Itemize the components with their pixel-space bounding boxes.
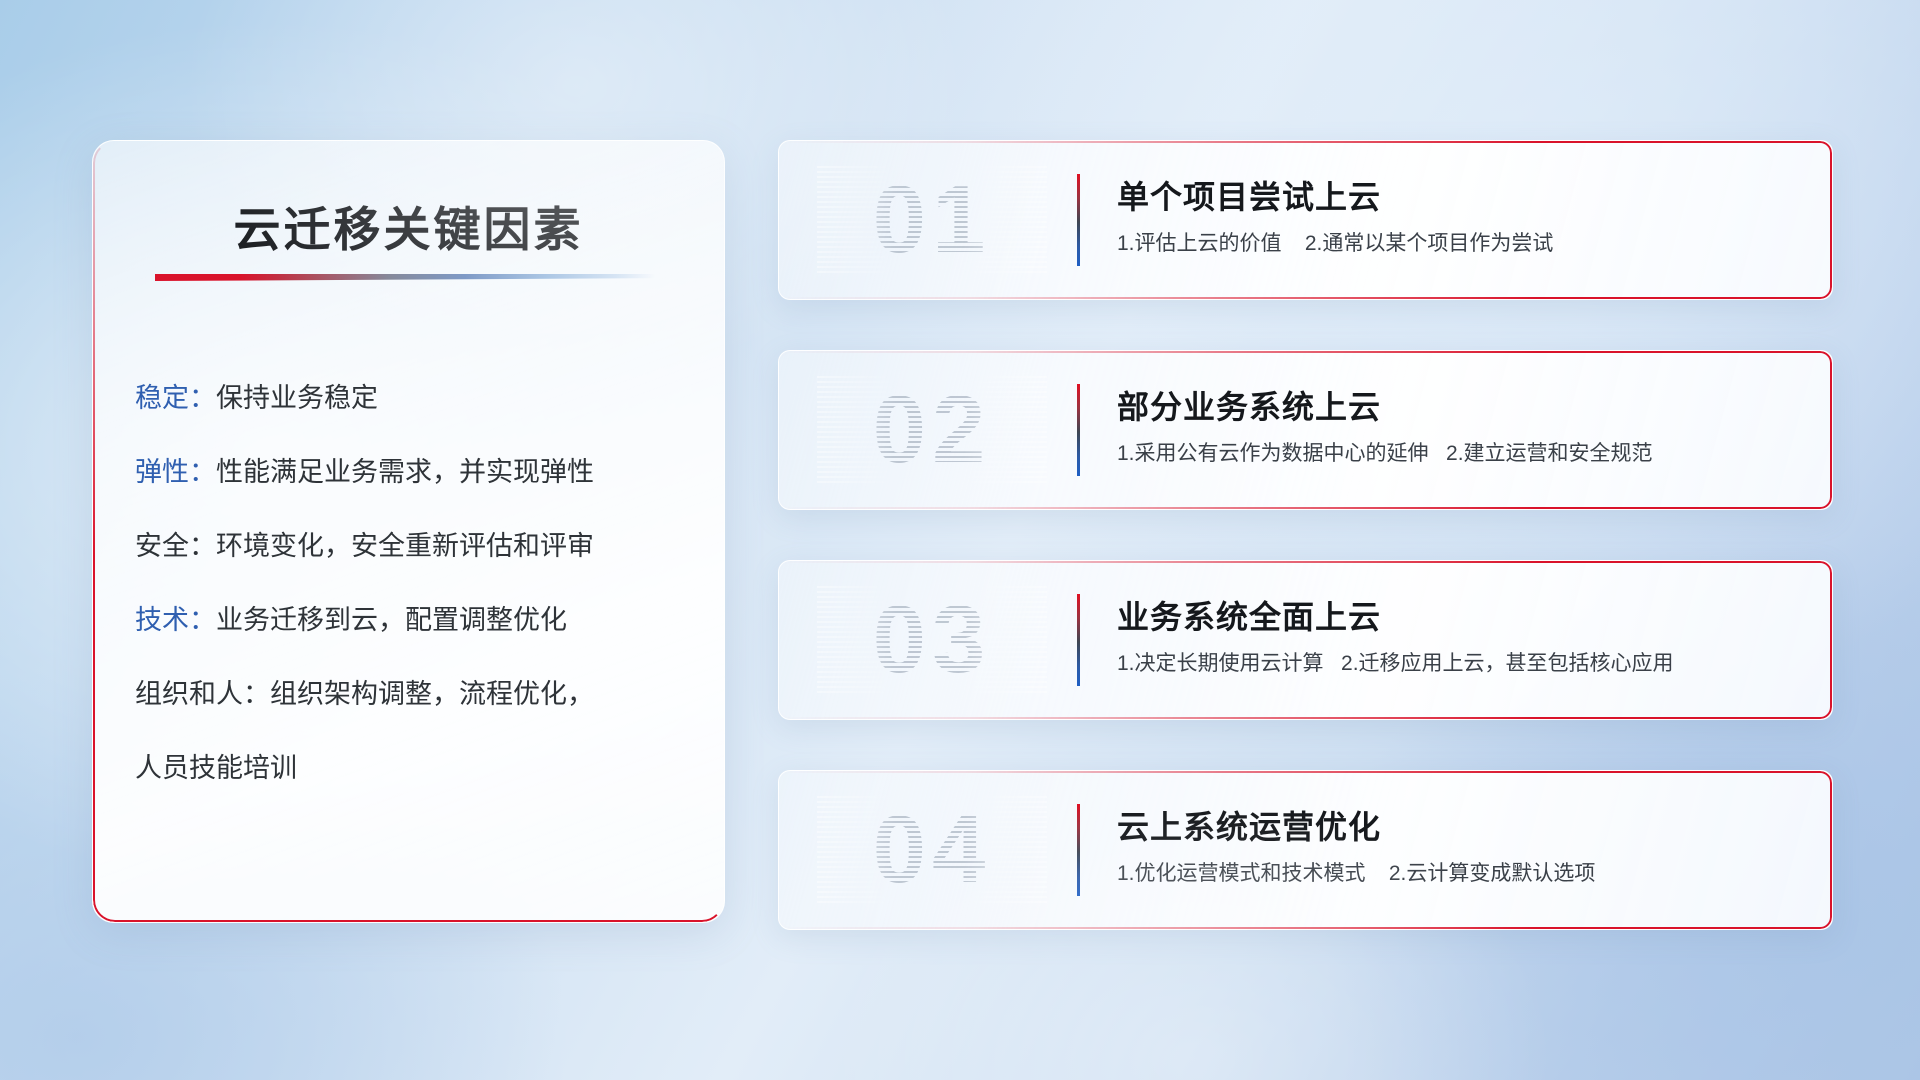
list-item-value: 保持业务稳定 xyxy=(216,383,378,413)
list-item-key: 技术： xyxy=(135,605,216,635)
card-body: 云上系统运营优化 1.优化运营模式和技术模式 2.云计算变成默认选项 xyxy=(1117,805,1804,889)
card-title: 业务系统全面上云 xyxy=(1117,595,1804,639)
card-body: 部分业务系统上云 1.采用公有云作为数据中心的延伸 2.建立运营和安全规范 xyxy=(1117,385,1804,469)
slide-canvas: 云迁移关键因素 稳定：保持业务稳定 弹性：性能满足业务需求，并实现弹性 安全：环… xyxy=(0,0,1920,1080)
stage-number: 03 xyxy=(817,586,1047,694)
key-factors-panel: 云迁移关键因素 稳定：保持业务稳定 弹性：性能满足业务需求，并实现弹性 安全：环… xyxy=(92,140,725,923)
list-item: 安全：环境变化，安全重新评估和评审 xyxy=(135,509,696,583)
list-item-continuation: 人员技能培训 xyxy=(135,731,696,805)
list-item-value: 性能满足业务需求，并实现弹性 xyxy=(216,457,594,487)
card-subtitle: 1.评估上云的价值 2.通常以某个项目作为尝试 xyxy=(1117,229,1804,259)
stage-card-02[interactable]: 02 部分业务系统上云 1.采用公有云作为数据中心的延伸 2.建立运营和安全规范 xyxy=(778,350,1833,510)
card-subtitle: 1.决定长期使用云计算 2.迁移应用上云，甚至包括核心应用 xyxy=(1117,649,1804,679)
list-item-value: 人员技能培训 xyxy=(135,753,297,783)
list-item: 弹性：性能满足业务需求，并实现弹性 xyxy=(135,435,696,509)
card-title: 云上系统运营优化 xyxy=(1117,805,1804,849)
stage-card-01[interactable]: 01 单个项目尝试上云 1.评估上云的价值 2.通常以某个项目作为尝试 xyxy=(778,140,1833,300)
title-underline-decoration xyxy=(155,274,655,281)
key-factors-list: 稳定：保持业务稳定 弹性：性能满足业务需求，并实现弹性 安全：环境变化，安全重新… xyxy=(135,361,696,805)
stage-number: 01 xyxy=(817,166,1047,274)
list-item-key: 安全： xyxy=(135,531,216,561)
list-item-key: 组织和人： xyxy=(135,679,270,709)
card-divider xyxy=(1077,384,1080,476)
card-body: 单个项目尝试上云 1.评估上云的价值 2.通常以某个项目作为尝试 xyxy=(1117,175,1804,259)
list-item-value: 组织架构调整，流程优化， xyxy=(270,679,594,709)
list-item: 技术：业务迁移到云，配置调整优化 xyxy=(135,583,696,657)
card-divider xyxy=(1077,594,1080,686)
list-item-value: 环境变化，安全重新评估和评审 xyxy=(216,531,594,561)
stage-number: 04 xyxy=(817,796,1047,904)
card-subtitle: 1.采用公有云作为数据中心的延伸 2.建立运营和安全规范 xyxy=(1117,439,1804,469)
card-divider xyxy=(1077,804,1080,896)
stage-card-03[interactable]: 03 业务系统全面上云 1.决定长期使用云计算 2.迁移应用上云，甚至包括核心应… xyxy=(778,560,1833,720)
stage-number: 02 xyxy=(817,376,1047,484)
card-title: 部分业务系统上云 xyxy=(1117,385,1804,429)
list-item-key: 稳定： xyxy=(135,383,216,413)
card-title: 单个项目尝试上云 xyxy=(1117,175,1804,219)
card-body: 业务系统全面上云 1.决定长期使用云计算 2.迁移应用上云，甚至包括核心应用 xyxy=(1117,595,1804,679)
card-divider xyxy=(1077,174,1080,266)
card-subtitle: 1.优化运营模式和技术模式 2.云计算变成默认选项 xyxy=(1117,859,1804,889)
list-item: 组织和人：组织架构调整，流程优化， xyxy=(135,657,696,731)
list-item: 稳定：保持业务稳定 xyxy=(135,361,696,435)
list-item-value: 业务迁移到云，配置调整优化 xyxy=(216,605,567,635)
page-title: 云迁移关键因素 xyxy=(93,191,724,260)
stage-card-04[interactable]: 04 云上系统运营优化 1.优化运营模式和技术模式 2.云计算变成默认选项 xyxy=(778,770,1833,930)
list-item-key: 弹性： xyxy=(135,457,216,487)
